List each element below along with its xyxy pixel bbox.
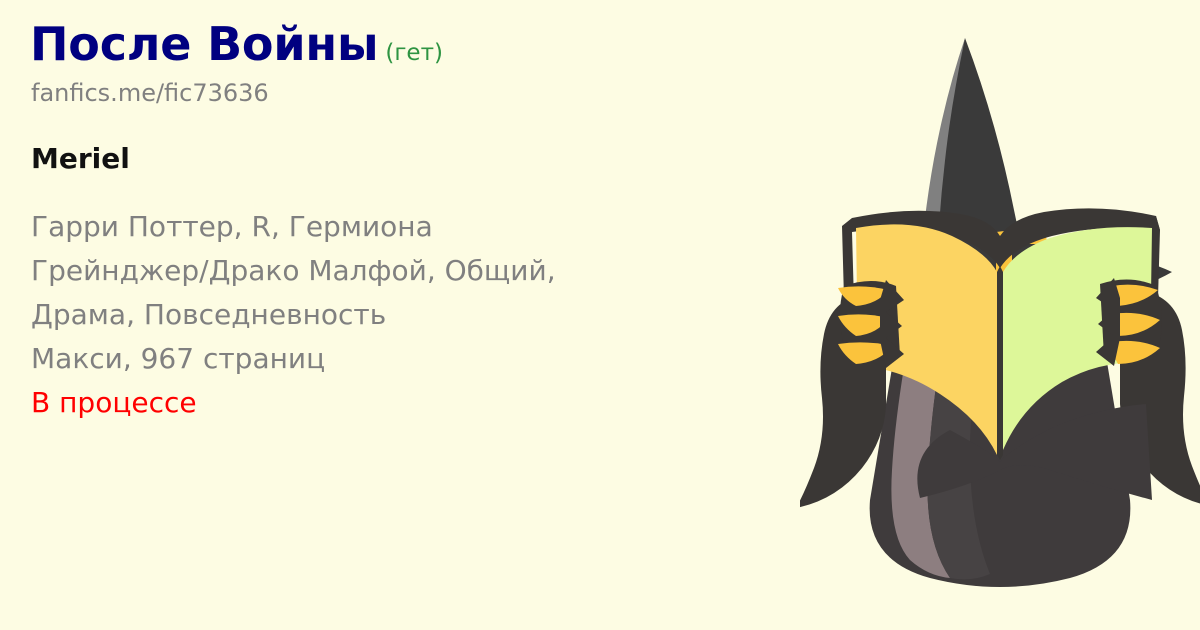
meta-line-3: Драма, Повседневность [31,293,821,337]
title-row: После Войны(гет) [30,21,443,67]
status-badge: В процессе [31,381,821,425]
wizard-reading-book-illustration [800,0,1200,630]
book-spine [997,266,1003,460]
meta-line-4: Макси, 967 страниц [31,337,821,381]
meta-line-1: Гарри Поттер, R, Гермиона [31,205,821,249]
social-preview-card: После Войны(гет) fanfics.me/fic73636 Mer… [0,0,1200,630]
text-column: После Войны(гет) fanfics.me/fic73636 Mer… [30,0,830,630]
category-badge: (гет) [385,40,443,66]
source-url[interactable]: fanfics.me/fic73636 [31,79,269,108]
author-name: Meriel [31,142,130,176]
page-title: После Войны [30,17,378,71]
meta-line-2: Грейнджер/Драко Малфой, Общий, [31,249,821,293]
metadata-block: Гарри Поттер, R, Гермиона Грейнджер/Драк… [31,205,821,425]
